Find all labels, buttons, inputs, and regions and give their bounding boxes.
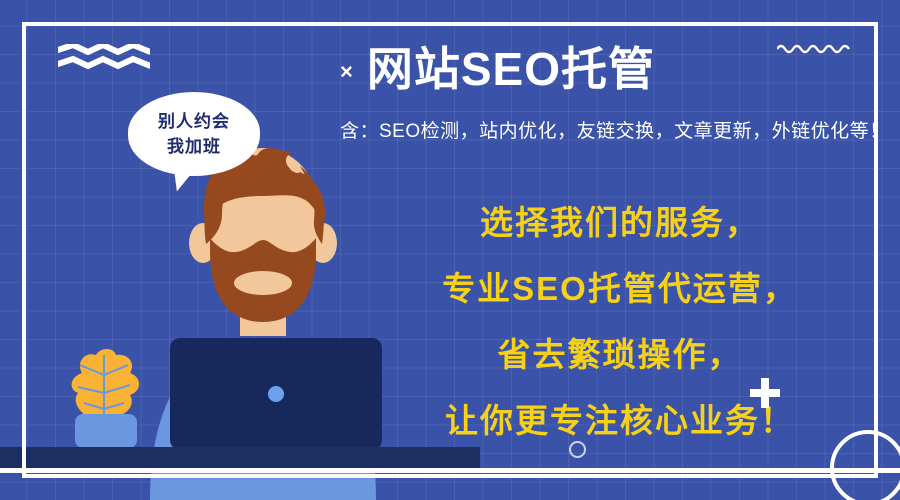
- plant-pot: [75, 414, 137, 448]
- circle-outline-icon: [830, 430, 900, 500]
- desk-surface: [0, 447, 480, 469]
- speech-bubble: 别人约会 我加班: [128, 92, 260, 176]
- page-subtitle: 含：SEO检测，站内优化，友链交换，文章更新，外链优化等！: [340, 116, 880, 143]
- wave-line-icon: [777, 42, 851, 54]
- seo-hosting-banner: 别人约会 我加班 × 网站SEO托管 含：SEO检测，站内优化，友链交换，文章更…: [0, 0, 900, 500]
- headline-line-4: 让你更专注核心业务！: [410, 388, 830, 454]
- speech-bubble-line1: 别人约会: [158, 109, 230, 134]
- speech-bubble-line2: 我加班: [167, 134, 221, 159]
- laptop-logo-dot: [268, 386, 284, 402]
- title-row: × 网站SEO托管: [340, 44, 740, 95]
- headline-block: 选择我们的服务， 专业SEO托管代运营， 省去繁琐操作， 让你更专注核心业务！: [410, 190, 830, 454]
- headline-line-2: 专业SEO托管代运营，: [410, 256, 830, 322]
- headline-line-3: 省去繁琐操作，: [410, 322, 830, 388]
- times-mark-icon: ×: [340, 55, 353, 83]
- headline-line-1: 选择我们的服务，: [410, 190, 830, 256]
- potted-plant-icon: [62, 345, 154, 423]
- desk-edge-line: [0, 468, 900, 473]
- laptop-icon: [170, 338, 382, 450]
- page-title: 网站SEO托管: [367, 44, 655, 95]
